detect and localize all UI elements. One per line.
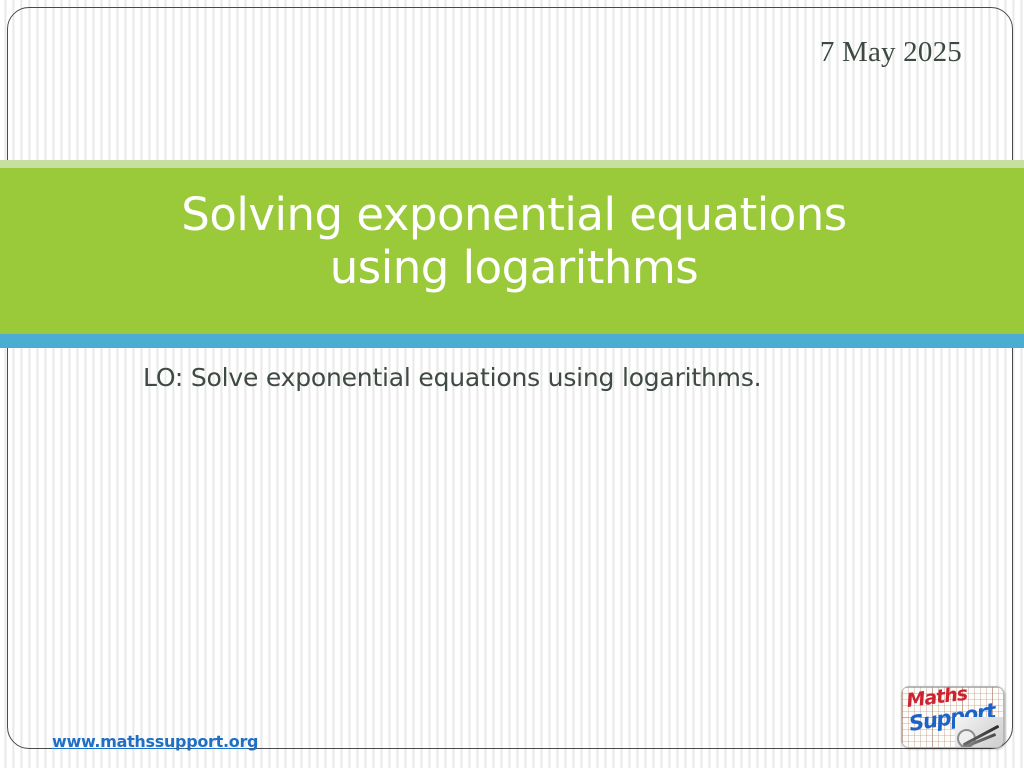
slide-date: 7 May 2025 — [820, 36, 962, 69]
logo-stationery-graphic — [955, 717, 1003, 747]
banner-blue-strip — [0, 334, 1024, 348]
presentation-slide: 7 May 2025 Solving exponential equations… — [0, 0, 1024, 768]
title-banner: Solving exponential equations using loga… — [0, 160, 1024, 348]
learning-objective-text: LO: Solve exponential equations using lo… — [143, 363, 761, 392]
maths-support-logo: Maths Support — [901, 686, 1004, 748]
banner-light-green-strip — [0, 160, 1024, 168]
slide-content-placeholder — [140, 410, 890, 690]
slide-title: Solving exponential equations using loga… — [140, 188, 888, 294]
footer-website-link[interactable]: www.mathssupport.org — [52, 732, 258, 751]
